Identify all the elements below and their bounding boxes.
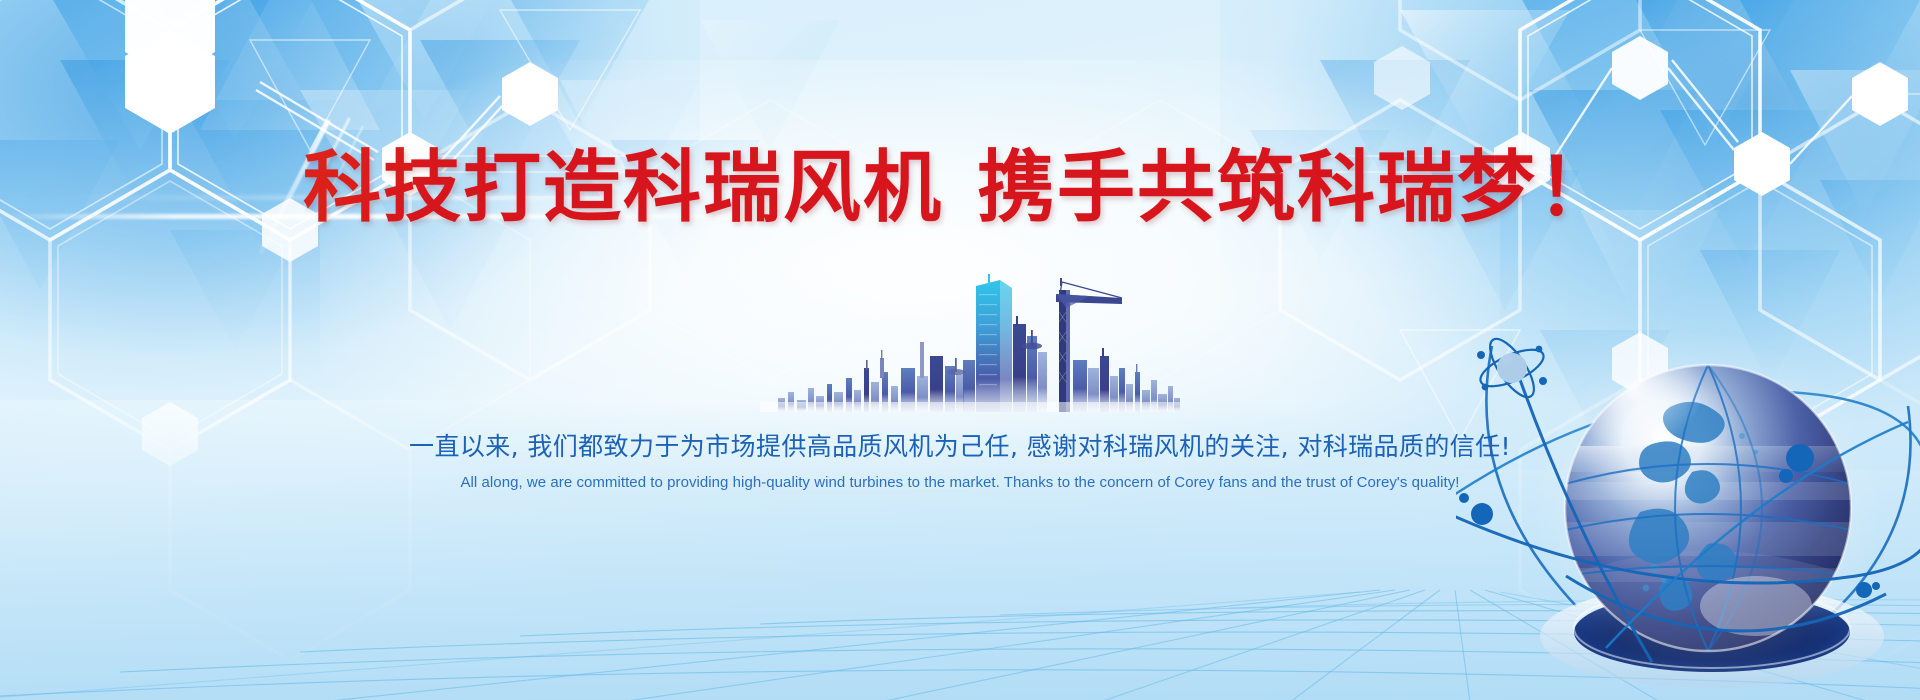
- center-glow: [320, 60, 1500, 490]
- headline-part-1: 科技打造科瑞风机: [303, 143, 943, 233]
- headline-part-2: 携手共筑科瑞梦！: [977, 143, 1617, 233]
- promotional-banner: 科技打造科瑞风机携手共筑科瑞梦！ 一直以来, 我们都致力于为市场提供高品质风机为…: [0, 0, 1920, 700]
- city-skyline: [760, 272, 1180, 412]
- banner-subtitle-chinese: 一直以来, 我们都致力于为市场提供高品质风机为己任, 感谢对科瑞风机的关注, 对…: [0, 430, 1920, 464]
- triangle-cluster-left: [0, 0, 1920, 700]
- banner-headline: 科技打造科瑞风机携手共筑科瑞梦！: [0, 140, 1920, 236]
- hexagon-network: [0, 0, 1920, 700]
- banner-subtitle-english: All along, we are committed to providing…: [0, 472, 1920, 494]
